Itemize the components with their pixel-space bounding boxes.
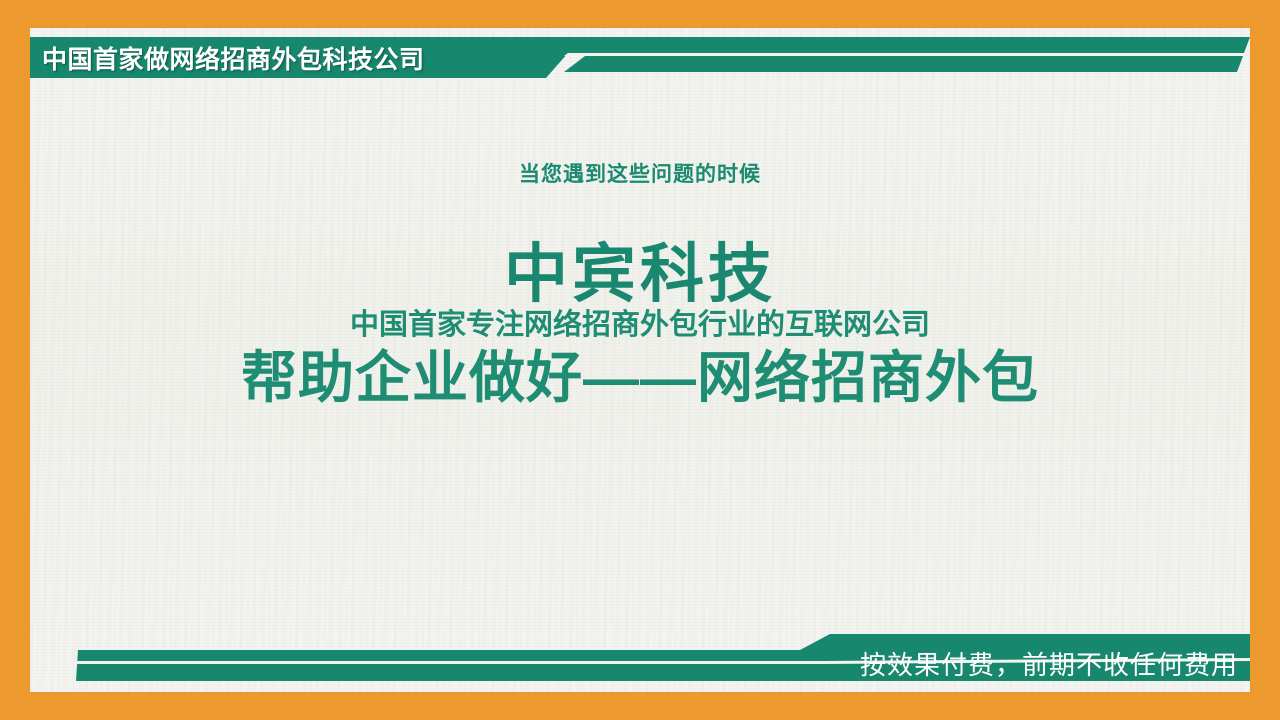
header-title: 中国首家做网络招商外包科技公司 [42,40,522,76]
slide-root: 中国首家做网络招商外包科技公司 当您遇到这些问题的时候 中宾科技 中国首家专注网… [0,0,1280,720]
footer-slogan: 按效果付费，前期不收任何费用 [860,643,1238,683]
slide-background [30,28,1250,692]
